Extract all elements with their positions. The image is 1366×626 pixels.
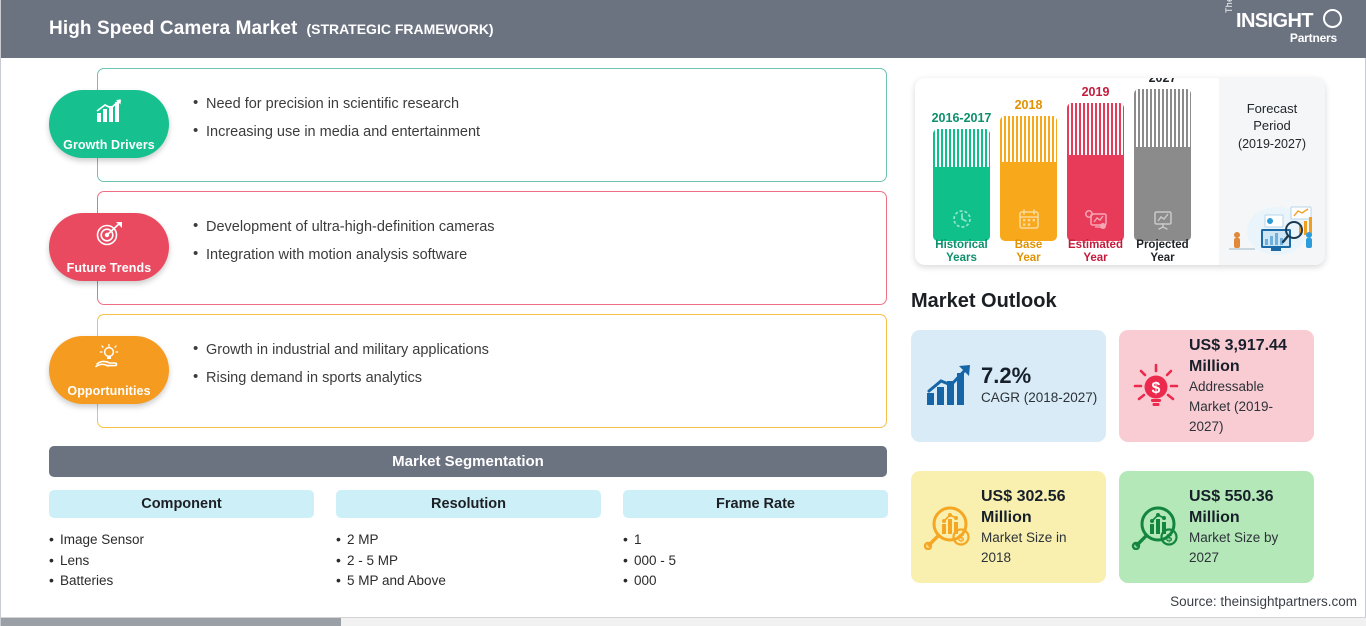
history-clock-icon <box>950 208 974 230</box>
outlook-card-value: US$ 3,917.44 Million <box>1189 335 1306 377</box>
bar-caption-line2: Year <box>1083 252 1107 264</box>
segmentation-column-header: Frame Rate <box>623 490 888 518</box>
bar-hatch <box>1000 116 1057 162</box>
badge-future-trends[interactable]: Future Trends <box>49 213 169 281</box>
lightbulb-dollar-icon: $ <box>1131 363 1181 409</box>
list-item: Development of ultra-high-definition cam… <box>193 213 495 241</box>
bar-shape <box>1134 89 1191 241</box>
bar-caption: Base Year <box>1015 239 1043 264</box>
list-item: Need for precision in scientific researc… <box>193 90 480 118</box>
svg-text:$: $ <box>958 533 964 545</box>
bar-caption: Estimated Year <box>1068 239 1123 264</box>
list-item: Batteries <box>49 571 314 592</box>
outlook-card-label: Market Size by 2027 <box>1189 528 1306 568</box>
forecast-bar-estimated: 2019 Estimated Year <box>1067 103 1124 241</box>
list-item: 1 <box>623 530 888 551</box>
outlook-card-label: Addressable Market (2019-2027) <box>1189 377 1306 437</box>
source-attribution: Source: theinsightpartners.com <box>1170 594 1357 609</box>
analytics-gear-icon <box>1084 208 1108 230</box>
forecast-bar-projected: 2027 Projected Year <box>1134 89 1191 241</box>
forecast-bar-base: 2018 Base Year <box>1000 116 1057 241</box>
bar-year-label: 2016-2017 <box>932 111 992 125</box>
svg-text:$: $ <box>1166 533 1172 545</box>
list-item: Growth in industrial and military applic… <box>193 336 489 364</box>
outlook-card-text: 7.2% CAGR (2018-2027) <box>981 364 1105 408</box>
list-item: Integration with motion analysis softwar… <box>193 241 495 269</box>
logo-the-text: The <box>1225 0 1234 13</box>
magnifier-bars-dollar-icon: $ <box>1131 504 1181 550</box>
outlook-card-text: US$ 550.36 Million Market Size by 2027 <box>1189 486 1314 568</box>
bar-year-label: 2019 <box>1082 85 1110 99</box>
forecast-bar-historical: 2016-2017 Historical Years <box>933 129 990 241</box>
insight-partners-logo: The INSIGHT Partners <box>1225 8 1345 50</box>
outlook-card-cagr[interactable]: 7.2% CAGR (2018-2027) <box>911 330 1106 442</box>
strip-bullet-list: Growth in industrial and military applic… <box>193 336 489 392</box>
strip-bullet-list: Need for precision in scientific researc… <box>193 90 480 146</box>
svg-text:$: $ <box>1152 380 1161 397</box>
segmentation-item-list: 1 000 - 5 000 <box>623 530 888 592</box>
right-column: 2016-2017 Historical Years 2018 <box>901 58 1366 626</box>
bar-year-label: 2027 <box>1149 78 1177 85</box>
market-segmentation-header: Market Segmentation <box>49 446 887 477</box>
logo-partners-text: Partners <box>1290 31 1337 45</box>
forecast-period-line2: Period <box>1219 117 1325 134</box>
bar-hatch <box>1067 103 1124 155</box>
left-column: Need for precision in scientific researc… <box>1 58 901 626</box>
forecast-period-panel: Forecast Period (2019-2027) <box>1219 78 1325 265</box>
bar-caption: Historical Years <box>935 239 987 264</box>
segmentation-column-header: Component <box>49 490 314 518</box>
page-subtitle: (STRATEGIC FRAMEWORK) <box>306 21 493 37</box>
badge-opportunities[interactable]: Opportunities <box>49 336 169 404</box>
badge-label: Opportunities <box>67 384 150 398</box>
outlook-card-label: CAGR (2018-2027) <box>981 388 1097 408</box>
strip-future-trends: Development of ultra-high-definition cam… <box>97 191 887 305</box>
target-dart-icon <box>94 221 124 247</box>
list-item: 5 MP and Above <box>336 571 601 592</box>
bar-year-label: 2018 <box>1015 98 1043 112</box>
list-item: Rising demand in sports analytics <box>193 364 489 392</box>
bar-shape <box>1000 116 1057 241</box>
outlook-card-text: US$ 302.56 Million Market Size in 2018 <box>981 486 1106 568</box>
forecast-period-card: 2016-2017 Historical Years 2018 <box>915 78 1325 265</box>
infographic-page: High Speed Camera Market (STRATEGIC FRAM… <box>0 0 1366 626</box>
bar-caption: Projected Year <box>1136 239 1188 264</box>
market-segmentation-title: Market Segmentation <box>392 453 544 470</box>
forecast-period-line1: Forecast <box>1219 100 1325 117</box>
logo-ring-icon <box>1323 9 1342 28</box>
bar-caption-line1: Estimated <box>1068 239 1123 251</box>
strip-bullet-list: Development of ultra-high-definition cam… <box>193 213 495 269</box>
logo-insight-text: INSIGHT <box>1236 10 1313 33</box>
forecast-period-range: (2019-2027) <box>1219 137 1325 151</box>
presentation-chart-icon <box>1151 208 1175 230</box>
bar-hatch <box>933 129 990 167</box>
strip-growth-drivers: Need for precision in scientific researc… <box>97 68 887 182</box>
badge-growth-drivers[interactable]: Growth Drivers <box>49 90 169 158</box>
segmentation-item-list: Image Sensor Lens Batteries <box>49 530 314 592</box>
horizontal-scrollbar[interactable] <box>1 617 1366 626</box>
page-header: High Speed Camera Market (STRATEGIC FRAM… <box>1 0 1366 58</box>
magnifier-bars-dollar-icon: $ <box>923 504 973 550</box>
list-item: 000 <box>623 571 888 592</box>
list-item: 000 - 5 <box>623 551 888 572</box>
list-item: Image Sensor <box>49 530 314 551</box>
outlook-card-market-size-2027[interactable]: $ US$ 550.36 Million Market Size by 2027 <box>1119 471 1314 583</box>
list-item: 2 - 5 MP <box>336 551 601 572</box>
bar-hatch <box>1134 89 1191 147</box>
bar-caption-line2: Year <box>1150 252 1174 264</box>
lightbulb-hand-icon <box>94 344 124 370</box>
page-title: High Speed Camera Market <box>49 18 297 40</box>
outlook-card-value: US$ 550.36 Million <box>1189 486 1306 528</box>
calendar-icon <box>1017 208 1041 230</box>
bar-caption-line1: Historical <box>935 239 987 251</box>
badge-label: Growth Drivers <box>63 138 155 152</box>
bar-shape <box>933 129 990 241</box>
bar-caption-line1: Base <box>1015 239 1043 251</box>
market-outlook-title: Market Outlook <box>911 290 1057 313</box>
growth-chart-icon <box>923 363 973 409</box>
bar-chart-growth-icon <box>94 98 124 124</box>
scrollbar-thumb[interactable] <box>1 618 341 626</box>
outlook-card-text: US$ 3,917.44 Million Addressable Market … <box>1189 335 1314 437</box>
analytics-dashboard-illustration <box>1225 199 1319 257</box>
segmentation-column-header: Resolution <box>336 490 601 518</box>
outlook-card-value: US$ 302.56 Million <box>981 486 1098 528</box>
outlook-card-label: Market Size in 2018 <box>981 528 1098 568</box>
badge-label: Future Trends <box>67 261 152 275</box>
segmentation-column-frame-rate: Frame Rate 1 000 - 5 000 <box>623 490 888 592</box>
outlook-card-value: 7.2% <box>981 364 1097 388</box>
list-item: Lens <box>49 551 314 572</box>
bar-caption-line2: Year <box>1016 252 1040 264</box>
bar-caption-line1: Projected <box>1136 239 1188 251</box>
bar-shape <box>1067 103 1124 241</box>
segmentation-column-component: Component Image Sensor Lens Batteries <box>49 490 314 592</box>
outlook-card-market-size-2018[interactable]: $ US$ 302.56 Million Market Size in 2018 <box>911 471 1106 583</box>
bar-caption-line2: Years <box>946 252 977 264</box>
forecast-bars: 2016-2017 Historical Years 2018 <box>933 78 1213 265</box>
segmentation-item-list: 2 MP 2 - 5 MP 5 MP and Above <box>336 530 601 592</box>
strip-opportunities: Growth in industrial and military applic… <box>97 314 887 428</box>
list-item: 2 MP <box>336 530 601 551</box>
outlook-card-addressable-market[interactable]: $ US$ 3,917.44 Million Addressable Marke… <box>1119 330 1314 442</box>
list-item: Increasing use in media and entertainmen… <box>193 118 480 146</box>
segmentation-column-resolution: Resolution 2 MP 2 - 5 MP 5 MP and Above <box>336 490 601 592</box>
